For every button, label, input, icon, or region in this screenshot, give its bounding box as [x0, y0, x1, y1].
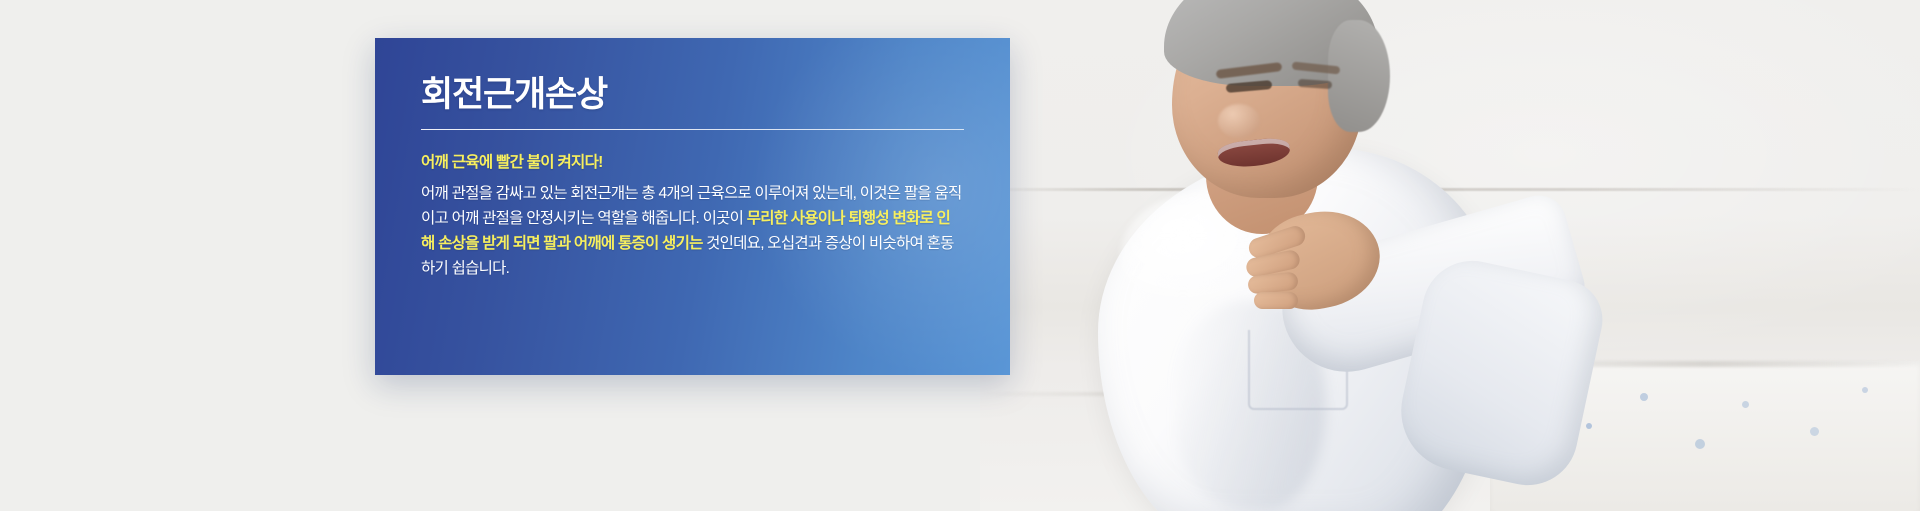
- card-body-copy: 어깨 관절을 감싸고 있는 회전근개는 총 4개의 근육으로 이루어져 있는데,…: [421, 181, 963, 281]
- info-card: 회전근개손상 어깨 근육에 빨간 불이 켜지다! 어깨 관절을 감싸고 있는 회…: [375, 38, 1010, 375]
- person-figure: [980, 0, 1920, 511]
- banner-stage: 회전근개손상 어깨 근육에 빨간 불이 켜지다! 어깨 관절을 감싸고 있는 회…: [0, 0, 1920, 511]
- hero-photo: [980, 0, 1920, 511]
- finger: [1254, 292, 1298, 309]
- nose: [1218, 104, 1260, 138]
- card-title: 회전근개손상: [421, 76, 1010, 114]
- gray-hair-side: [1328, 20, 1390, 132]
- card-lede: 어깨 근육에 빨간 불이 켜지다!: [421, 150, 1010, 172]
- title-divider-rule: [421, 129, 964, 130]
